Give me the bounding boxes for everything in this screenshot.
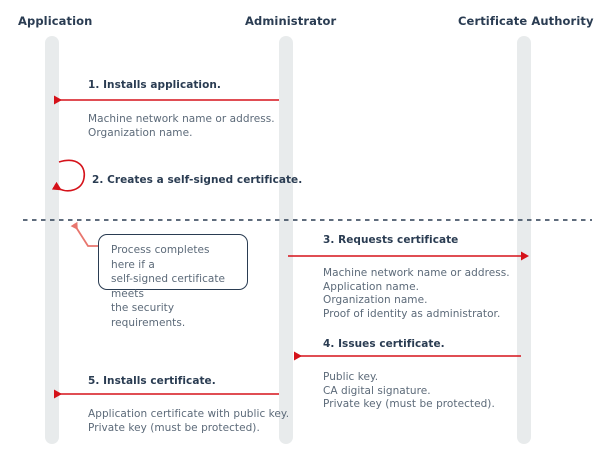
- lifeline-application: [45, 36, 59, 444]
- actor-label-application: Application: [18, 14, 92, 28]
- lifeline-administrator: [279, 36, 293, 444]
- note-callout: Process completes here if a self-signed …: [98, 234, 248, 290]
- step-detail-5: Application certificate with public key.…: [88, 408, 289, 435]
- actor-label-administrator: Administrator: [245, 14, 336, 28]
- arrow-step-2-self-loop: [58, 160, 84, 190]
- step-label-3: 3. Requests certificate: [323, 234, 458, 246]
- step-label-2: 2. Creates a self-signed certificate.: [92, 174, 302, 186]
- step-label-4: 4. Issues certificate.: [323, 338, 445, 350]
- step-label-5: 5. Installs certificate.: [88, 375, 216, 387]
- note-pointer: [74, 224, 100, 246]
- sequence-diagram-canvas: [0, 0, 600, 462]
- step-detail-4: Public key. CA digital signature. Privat…: [323, 371, 495, 412]
- lifeline-certificate-authority: [517, 36, 531, 444]
- step-detail-1: Machine network name or address. Organiz…: [88, 113, 275, 140]
- step-label-1: 1. Installs application.: [88, 79, 221, 91]
- step-detail-3: Machine network name or address. Applica…: [323, 267, 510, 321]
- actor-label-certificate-authority: Certificate Authority: [458, 14, 594, 28]
